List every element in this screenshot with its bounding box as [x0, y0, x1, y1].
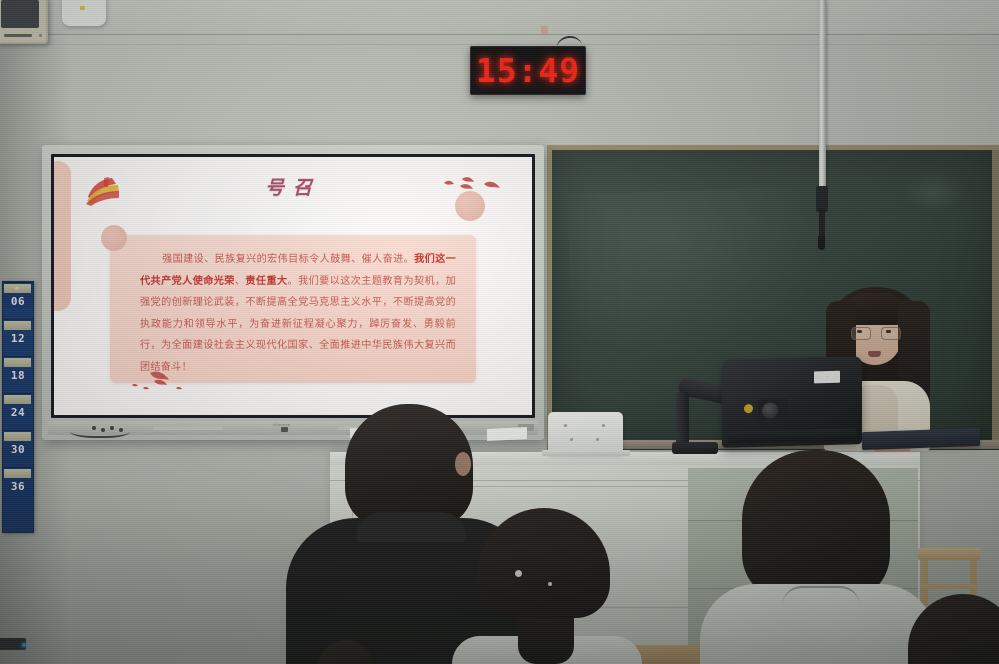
white-monitor-bracket	[548, 412, 623, 454]
height-chart-cell: 12	[3, 319, 33, 356]
chalkboard-right-frame	[992, 145, 999, 445]
birds-decoration-bottom-icon	[126, 369, 196, 399]
scroll-left-roll	[54, 161, 71, 311]
height-chart-number: 18	[3, 369, 33, 382]
display-cable	[70, 422, 130, 438]
ac-led-icon	[39, 34, 42, 37]
height-chart-cell: 30	[3, 430, 33, 467]
height-chart-band	[4, 284, 31, 293]
display-port-left	[153, 426, 223, 430]
height-chart-cell: 06	[3, 282, 33, 319]
height-chart-number: 24	[3, 406, 33, 419]
power-icon[interactable]	[281, 427, 288, 432]
scroll-banner: 强国建设、民族复兴的宏伟目标令人鼓舞、催人奋进。我们这一代共产党人使命光荣、责任…	[110, 235, 476, 383]
wifi-led-icon	[80, 6, 85, 10]
clock-time-display: 15:49	[476, 54, 580, 87]
paper-on-desk	[487, 427, 527, 441]
projector-tip	[818, 236, 825, 250]
height-chart-number: 30	[3, 443, 33, 456]
teacher-eye-right	[886, 330, 891, 333]
teacher-mouth	[868, 351, 881, 357]
monitor-asset-label: · ·	[814, 371, 840, 384]
desktop-monitor-rear: · ·	[722, 356, 862, 448]
wall-air-conditioner	[0, 0, 48, 44]
ceiling-seam	[0, 34, 999, 35]
scroll-knob-left	[101, 225, 127, 251]
height-chart-number: 12	[3, 332, 33, 345]
smoke-detector-icon	[541, 26, 548, 34]
wifi-access-point	[62, 0, 106, 26]
height-chart-cell: 18	[3, 356, 33, 393]
display-screen[interactable]: 号召	[54, 157, 532, 415]
height-chart-band	[4, 358, 31, 367]
height-chart-number: 06	[3, 295, 33, 308]
height-chart-cell: 24	[3, 393, 33, 430]
monitor-amber-knob	[744, 404, 753, 413]
wall-digital-clock: 15:49	[470, 46, 586, 95]
height-chart-band	[4, 469, 31, 478]
teacher-eye-left	[857, 330, 862, 333]
ac-grille-icon	[1, 0, 39, 28]
scroll-knob-right	[455, 191, 485, 221]
height-chart-band	[4, 321, 31, 330]
classroom-photo: 15:49 061218243036	[0, 0, 999, 664]
height-chart-band	[4, 432, 31, 441]
monitor-bracket-base	[542, 450, 630, 456]
floor-shadow	[0, 484, 999, 664]
presentation-slide: 号召	[54, 157, 532, 415]
chalk-smudge-2	[904, 172, 964, 212]
student-boy-ear	[455, 452, 471, 476]
display-bezel: 号召	[51, 154, 535, 418]
ceiling	[0, 0, 999, 36]
monitor-base-edge	[728, 428, 856, 443]
interactive-whiteboard[interactable]: 号召	[42, 145, 544, 440]
ceiling-seam-2	[0, 44, 999, 45]
ac-vent-icon	[4, 34, 32, 37]
chalk-smudge	[567, 186, 833, 365]
monitor-arm-clamp	[672, 442, 718, 454]
projector-tail	[819, 208, 825, 238]
height-chart-band	[4, 395, 31, 404]
slide-body-text: 强国建设、民族复兴的宏伟目标令人鼓舞、催人奋进。我们这一代共产党人使命光荣、责任…	[140, 249, 456, 378]
ceiling-projector-pole	[819, 0, 826, 192]
